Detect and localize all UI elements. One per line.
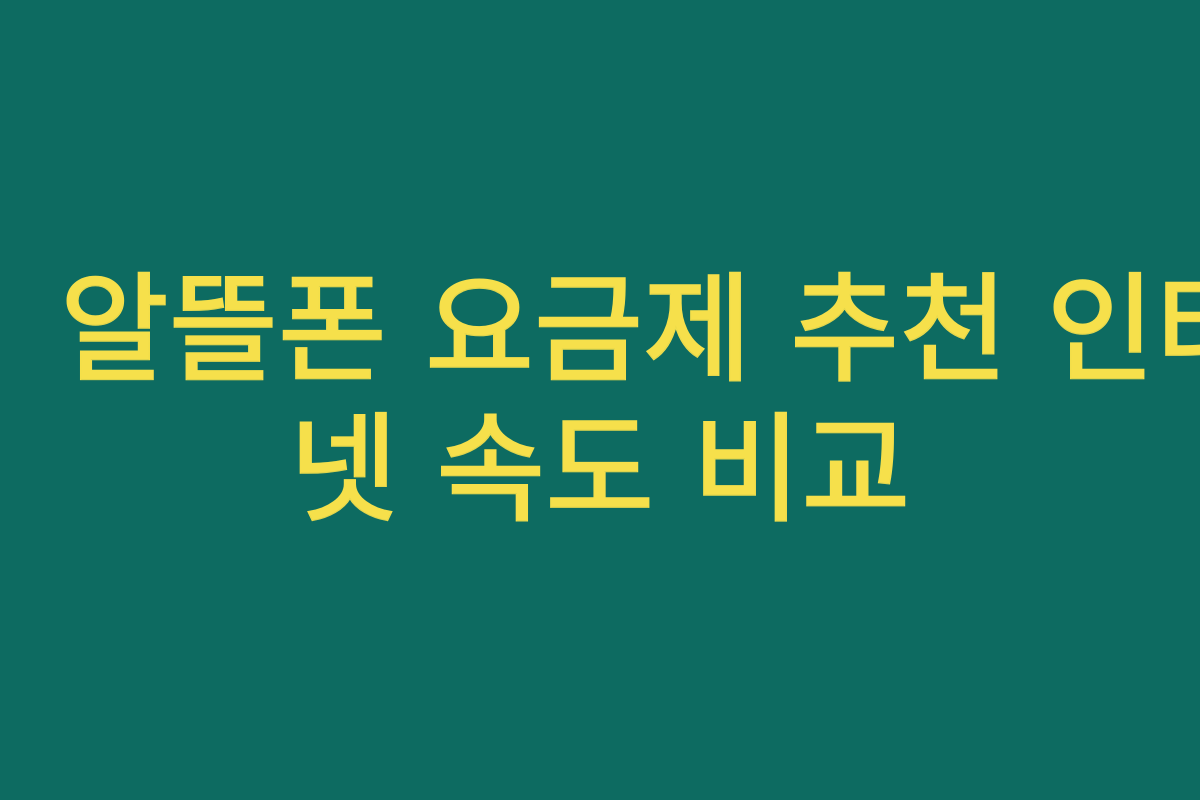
headline-line-1: 알뜰폰 요금제 추천 인터 <box>60 260 1140 400</box>
page-title: 알뜰폰 요금제 추천 인터 넷 속도 비교 <box>0 260 1200 540</box>
headline-line-2: 넷 속도 비교 <box>60 400 1140 540</box>
thumbnail-card: 알뜰폰 요금제 추천 인터 넷 속도 비교 <box>0 0 1200 800</box>
